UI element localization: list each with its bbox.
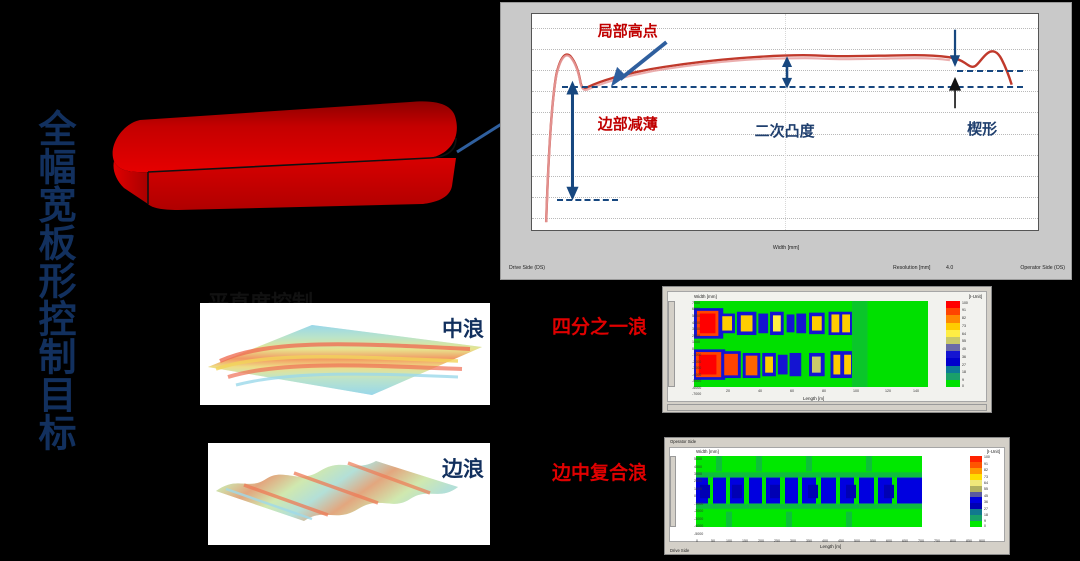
heatmap-x-tick: 300: [790, 539, 796, 543]
heatmap-x-tick: 150: [742, 539, 748, 543]
heatmap-canvas-frame: Width [mm]: [667, 291, 987, 402]
annotation-secondary-crown: 二次凸度: [755, 120, 815, 141]
heatmap-x-tick: 350: [806, 539, 812, 543]
heatmap-x-tick: 900: [979, 539, 985, 543]
heatmap-x-tick: 600: [886, 539, 892, 543]
heatmap-x-tick: 20: [726, 389, 730, 393]
heatmap-x-tick: 40: [758, 389, 762, 393]
legend-value: 18: [962, 370, 966, 374]
annotation-edge-drop: 边部减薄: [598, 113, 658, 134]
heatmap-legend-title: [I-Unit]: [969, 294, 982, 299]
operator-side-caption: Operator Side: [670, 439, 696, 444]
heatmap-horizontal-scrollbar[interactable]: [667, 404, 987, 411]
heatmap-x-tick: 140: [913, 389, 919, 393]
heatmap-x-tick: 200: [758, 539, 764, 543]
heatmap-canvas-frame: Width [mm]: [669, 447, 1005, 542]
legend-value: 64: [984, 481, 988, 485]
heatmap-x-tick: 50: [711, 539, 715, 543]
resolution-label: Resolution [mm]: [893, 265, 930, 271]
heatmap-x-tick: 500: [854, 539, 860, 543]
annotation-local-high-point: 局部高点: [598, 20, 658, 41]
heatmap-x-tick: 60: [790, 389, 794, 393]
heatmap-ylabel: Width [mm]: [696, 449, 719, 454]
drive-side-label: Drive Side (DS): [509, 265, 545, 271]
operator-side-label: Operator Side (OS): [1020, 265, 1065, 271]
heatmap-legend-values: 100 91 82 73 64 55 45 36 27 18 9 0: [960, 301, 980, 387]
heatmap-image: [694, 301, 928, 387]
local-high-pointer-arrow-icon: [583, 36, 694, 90]
center-wave-illustration: 中浪: [200, 303, 490, 405]
heatmap-x-tick: 700: [918, 539, 924, 543]
heatmap-vertical-scrollbar[interactable]: [670, 456, 676, 527]
flatness-heatmap-quarter-wave: Width [mm]: [662, 286, 992, 413]
flatness-heatmap-composite-wave: Operator Side Width [mm]: [664, 437, 1010, 555]
legend-value: 82: [962, 316, 966, 320]
heatmap-x-tick: 450: [838, 539, 844, 543]
legend-value: 45: [962, 347, 966, 351]
legend-value: 27: [984, 507, 988, 511]
composite-wave-caption: 边中复合浪: [552, 458, 647, 485]
heatmap-x-tick: 100: [853, 389, 859, 393]
legend-value: 27: [962, 363, 966, 367]
quarter-wave-caption: 四分之一浪: [552, 312, 647, 339]
resolution-value: 4.0: [946, 265, 953, 271]
legend-value: 100: [962, 301, 968, 305]
x-axis-label: Width [mm]: [773, 245, 799, 251]
legend-value: 45: [984, 494, 988, 498]
slab-svg: [62, 58, 482, 248]
annotation-wedge: 楔形: [967, 118, 997, 139]
legend-value: 36: [962, 355, 966, 359]
heatmap-x-tick: 750: [934, 539, 940, 543]
legend-value: 82: [984, 468, 988, 472]
edge-wave-label: 边浪: [442, 453, 484, 483]
strip-profile-chart: 40 20 0 -20 -40 -60 -80 -100 -120 -140 2…: [500, 2, 1072, 280]
legend-value: 73: [984, 475, 988, 479]
heatmap-legend-title: [I-Unit]: [987, 449, 1000, 454]
legend-value: 100: [984, 455, 990, 459]
legend-value: 91: [962, 308, 966, 312]
legend-value: 0: [984, 524, 986, 528]
heatmap-xlabel: Length [m]: [820, 544, 841, 549]
legend-value: 36: [984, 500, 988, 504]
legend-value: 18: [984, 513, 988, 517]
heatmap-x-tick: 550: [870, 539, 876, 543]
heatmap-x-tick: 0: [696, 539, 698, 543]
profile-plot-area: 40 20 0 -20 -40 -60 -80 -100 -120 -140 2…: [531, 13, 1039, 231]
legend-value: 0: [962, 384, 964, 388]
heatmap-ylabel: Width [mm]: [694, 294, 717, 299]
heatmap-plot-area: [694, 301, 928, 387]
heatmap-color-legend: [946, 301, 960, 387]
heatmap-x-tick: 650: [902, 539, 908, 543]
center-wave-label: 中浪: [442, 313, 484, 343]
heatmap-xlabel: Length [m]: [803, 396, 824, 401]
heatmap-x-tick: 120: [885, 389, 891, 393]
legend-value: 55: [984, 487, 988, 491]
steel-slab-3d-illustration: [62, 58, 482, 248]
heatmap-x-tick: 100: [726, 539, 732, 543]
legend-value: 64: [962, 332, 966, 336]
legend-value: 9: [984, 519, 986, 523]
heatmap-x-tick: 80: [822, 389, 826, 393]
heatmap-plot-area: [696, 456, 922, 527]
heatmap-x-tick: 250: [774, 539, 780, 543]
heatmap-image: [696, 456, 922, 527]
heatmap-x-tick: 800: [950, 539, 956, 543]
legend-value: 9: [962, 378, 964, 382]
legend-value: 91: [984, 462, 988, 466]
heatmap-x-tick: 850: [966, 539, 972, 543]
edge-wave-illustration: 边浪: [208, 443, 490, 545]
heatmap-legend-values: 100 91 82 73 64 55 45 36 27 18 9 0: [982, 456, 1000, 527]
legend-value: 55: [962, 339, 966, 343]
heatmap-vertical-scrollbar[interactable]: [668, 301, 675, 387]
drive-side-caption: Drive Side: [670, 548, 689, 553]
heatmap-color-legend: [970, 456, 982, 527]
legend-value: 73: [962, 324, 966, 328]
heatmap-x-tick: 400: [822, 539, 828, 543]
